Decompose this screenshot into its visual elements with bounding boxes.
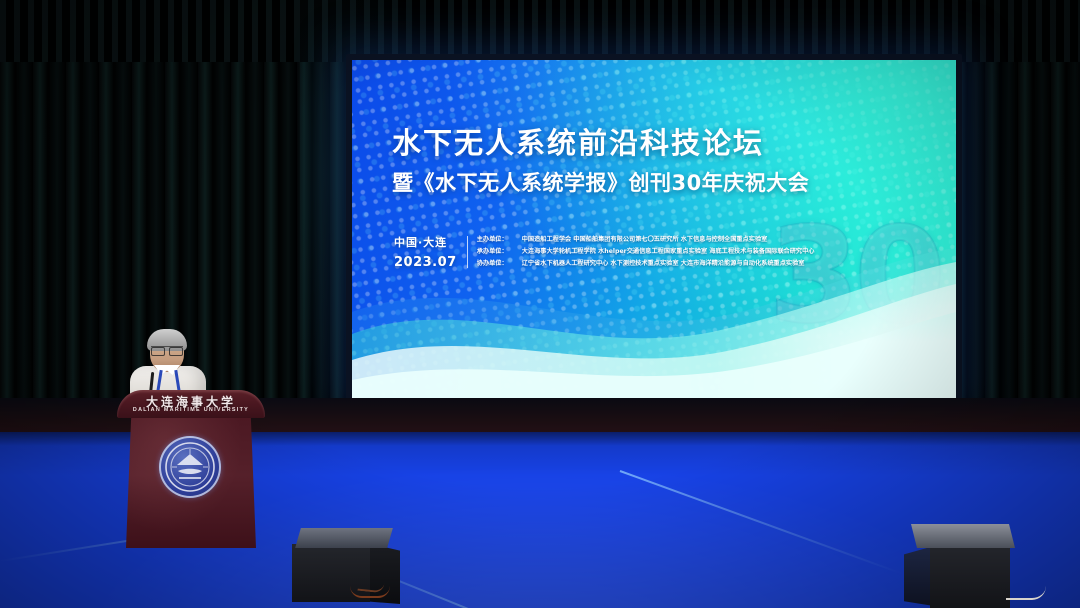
organizer-items-organizer: 大连海事大学轮机工程学院 水helper交通信息工程国家重点实验室 海底工程技术…	[522, 246, 815, 258]
halftone-pattern-secondary	[352, 60, 956, 398]
organizer-label-host: 主办单位：	[477, 234, 513, 246]
stage-curtain-top	[0, 0, 1080, 62]
organizer-row-host: 主办单位： 中国造船工程学会 中国船舶集团有限公司第七〇五研究所 水下信息与控制…	[477, 234, 815, 246]
screen-headline: 水下无人系统前沿科技论坛 暨《水下无人系统学报》创刊30年庆祝大会	[392, 120, 892, 197]
event-date: 2023.07	[394, 255, 457, 270]
screen-info-block: 中国·大连 2023.07 主办单位： 中国造船工程学会 中国船舶集团有限公司第…	[394, 234, 815, 270]
podium: 大连海事大学 DALIAN MARITIME UNIVERSITY	[117, 390, 265, 548]
podium-name-en: DALIAN MARITIME UNIVERSITY	[117, 407, 265, 413]
monitor-face	[930, 544, 1010, 608]
info-divider	[467, 236, 468, 268]
glasses-icon	[151, 346, 183, 354]
organizer-row-organizer: 承办单位： 大连海事大学轮机工程学院 水helper交通信息工程国家重点实验室 …	[477, 246, 815, 258]
forum-title: 水下无人系统前沿科技论坛	[392, 120, 892, 162]
event-location: 中国·大连	[394, 234, 457, 250]
university-crest-icon	[159, 436, 221, 498]
floor-cable	[350, 584, 390, 598]
conference-stage-scene: 30	[0, 0, 1080, 608]
wave-graphic	[352, 248, 956, 398]
organizer-list: 主办单位： 中国造船工程学会 中国船舶集团有限公司第七〇五研究所 水下信息与控制…	[477, 234, 815, 270]
stage-monitor-right	[898, 524, 1034, 608]
forum-subtitle: 暨《水下无人系统学报》创刊30年庆祝大会	[392, 167, 892, 197]
organizer-label-coorganizer: 协办单位：	[477, 258, 513, 270]
organizer-label-organizer: 承办单位：	[477, 246, 513, 258]
anniversary-30-watermark: 30	[768, 210, 940, 342]
organizer-items-coorganizer: 辽宁省水下机器人工程研究中心 水下测控技术重点实验室 大连市海洋精沿能源与自动化…	[522, 258, 805, 270]
event-meta: 中国·大连 2023.07	[394, 234, 467, 270]
monitor-top	[295, 528, 393, 548]
halftone-pattern	[352, 60, 956, 398]
stage-curtain-right	[952, 0, 1080, 430]
organizer-row-coorganizer: 协办单位： 辽宁省水下机器人工程研究中心 水下测控技术重点实验室 大连市海洋精沿…	[477, 258, 815, 270]
organizer-items-host: 中国造船工程学会 中国船舶集团有限公司第七〇五研究所 水下信息与控制全国重点实验…	[522, 234, 768, 246]
monitor-top	[911, 524, 1015, 548]
led-screen: 30	[352, 60, 956, 398]
